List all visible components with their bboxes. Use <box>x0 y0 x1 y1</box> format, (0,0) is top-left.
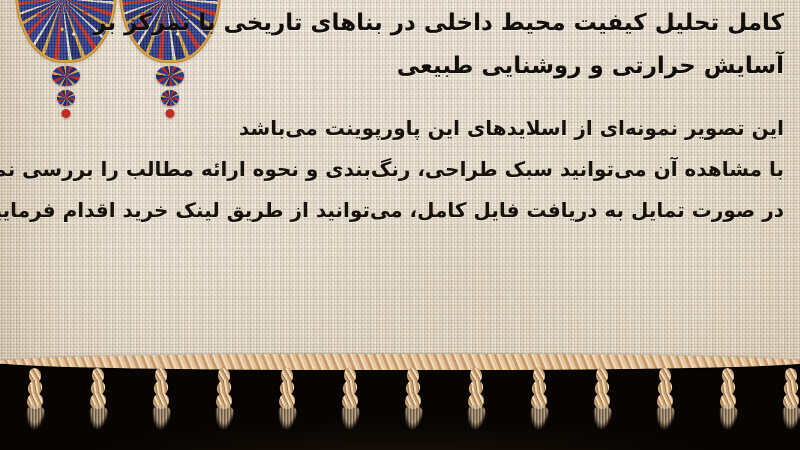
fringe-tassel <box>274 366 300 444</box>
fringe-tassel <box>337 366 363 444</box>
fringe-tassel <box>400 366 426 444</box>
tassel-skirt <box>589 404 615 442</box>
fringe-tassel <box>526 366 552 444</box>
tassel-skirt <box>274 404 300 442</box>
fringe-tassel <box>778 366 800 444</box>
tassel-skirt <box>652 404 678 442</box>
text-layer: کامل تحلیل کیفیت محیط داخلی در بناهای تا… <box>0 0 800 382</box>
title-line-1: کامل تحلیل کیفیت محیط داخلی در بناهای تا… <box>14 2 784 45</box>
fringe-tassel <box>589 366 615 444</box>
fringe-tassel <box>211 366 237 444</box>
fringe-tassel <box>715 366 741 444</box>
tassel-skirt <box>211 404 237 442</box>
tassel-skirt <box>715 404 741 442</box>
fringe-tassel <box>85 366 111 444</box>
slide-title: کامل تحلیل کیفیت محیط داخلی در بناهای تا… <box>14 2 784 88</box>
carpet-fringe <box>0 364 800 450</box>
fringe-tassel <box>652 366 678 444</box>
body-line-2: با مشاهده آن می‌توانید سبک طراحی، رنگ‌بن… <box>14 149 784 190</box>
tassel-skirt <box>400 404 426 442</box>
tassel-skirt <box>85 404 111 442</box>
tassel-skirt <box>463 404 489 442</box>
title-line-2: آسایش حرارتی و روشنایی طبیعی <box>14 45 784 88</box>
body-line-3: در صورت تمایل به دریافت فایل کامل، می‌تو… <box>14 190 784 231</box>
fringe-tassel <box>148 366 174 444</box>
fringe-tassel <box>22 366 48 444</box>
fringe-tassel <box>463 366 489 444</box>
tassel-skirt <box>778 404 800 442</box>
body-line-1: این تصویر نمونه‌ای از اسلایدهای این پاور… <box>14 108 784 149</box>
tassel-skirt <box>22 404 48 442</box>
slide-canvas: کامل تحلیل کیفیت محیط داخلی در بناهای تا… <box>0 0 800 450</box>
tassel-skirt <box>337 404 363 442</box>
slide-body: این تصویر نمونه‌ای از اسلایدهای این پاور… <box>14 108 784 231</box>
tassel-skirt <box>526 404 552 442</box>
tassel-skirt <box>148 404 174 442</box>
